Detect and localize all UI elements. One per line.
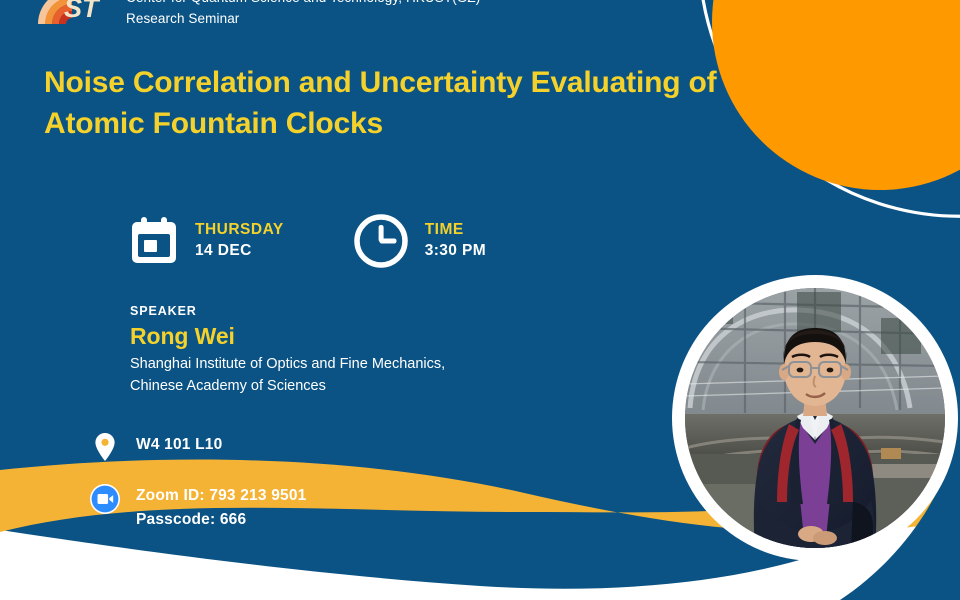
speaker-affiliation-line-1: Shanghai Institute of Optics and Fine Me… — [130, 353, 600, 375]
venue-block: W4 101 L10 Zoom ID: 793 213 9501 Passcod… — [88, 432, 306, 531]
speaker-portrait — [672, 275, 958, 561]
time-label: TIME — [425, 220, 486, 240]
seminar-title: Noise Correlation and Uncertainty Evalua… — [44, 62, 774, 144]
date-time-row: THURSDAY 14 DEC TIME 3:30 PM — [128, 212, 486, 270]
calendar-icon — [128, 215, 180, 267]
speaker-name: Rong Wei — [130, 320, 600, 353]
time-value: 3:30 PM — [425, 240, 486, 262]
zoom-row: Zoom ID: 793 213 9501 Passcode: 666 — [88, 483, 306, 531]
org-line-center: Center for Quantum Science and Technolog… — [126, 0, 480, 8]
zoom-text-block: Zoom ID: 793 213 9501 Passcode: 666 — [136, 483, 306, 531]
org-name-block: Center for Quantum Science and Technolog… — [126, 0, 480, 29]
org-line-seminar: Research Seminar — [126, 8, 480, 29]
date-block: THURSDAY 14 DEC — [128, 215, 284, 267]
zoom-passcode-text: Passcode: 666 — [136, 507, 306, 531]
seminar-poster: ST Center for Quantum Science and Techno… — [0, 0, 960, 600]
location-row: W4 101 L10 — [88, 432, 306, 462]
clock-icon — [352, 212, 410, 270]
logo-wordmark: ST — [64, 0, 101, 23]
zoom-video-icon[interactable] — [88, 483, 122, 515]
date-value: 14 DEC — [195, 240, 284, 262]
location-pin-icon — [88, 432, 122, 462]
speaker-photo — [685, 288, 945, 548]
speaker-label: SPEAKER — [130, 302, 600, 320]
time-text: TIME 3:30 PM — [425, 220, 486, 262]
speaker-affiliation-line-2: Chinese Academy of Sciences — [130, 375, 600, 397]
location-text: W4 101 L10 — [136, 432, 222, 456]
header: ST Center for Quantum Science and Techno… — [34, 0, 480, 30]
date-text: THURSDAY 14 DEC — [195, 220, 284, 262]
zoom-id-text: Zoom ID: 793 213 9501 — [136, 483, 306, 507]
speaker-block: SPEAKER Rong Wei Shanghai Institute of O… — [130, 302, 600, 397]
date-label: THURSDAY — [195, 220, 284, 240]
cqst-logo: ST — [34, 0, 108, 30]
time-block: TIME 3:30 PM — [352, 212, 486, 270]
